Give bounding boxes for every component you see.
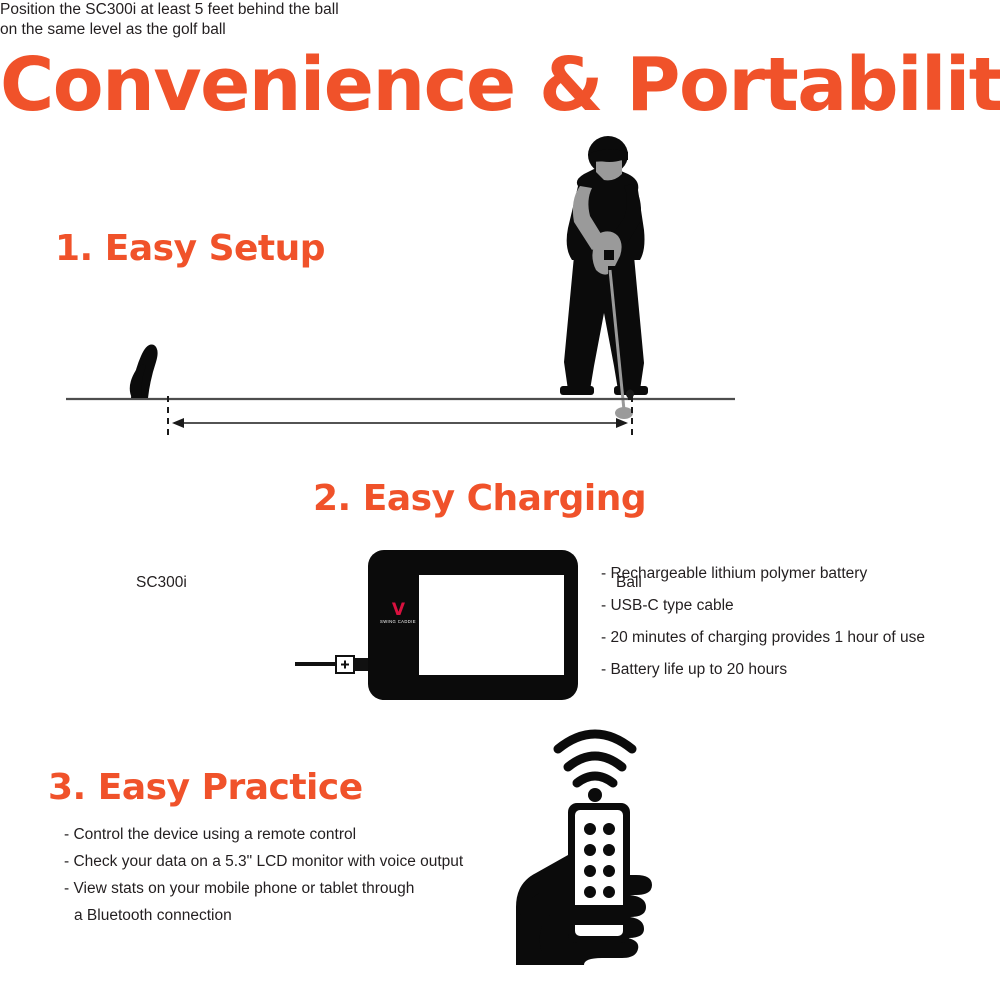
- signal-dot: [588, 788, 602, 802]
- swing-caddie-logo: V SWING CADDIE: [377, 602, 419, 624]
- remote-control-illustration: [480, 715, 690, 970]
- charging-bullet-1: - Rechargeable lithium polymer battery: [601, 565, 925, 583]
- easy-practice-bullets: - Control the device using a remote cont…: [64, 826, 463, 934]
- wireless-signal-icon: [558, 734, 632, 783]
- charging-bullet-4: - Battery life up to 20 hours: [601, 661, 925, 679]
- setup-diagram-svg: [0, 130, 1000, 470]
- distance-dimension-arrow: [172, 418, 628, 428]
- section-heading-easy-practice: 3. Easy Practice: [48, 770, 363, 806]
- setup-diagram: SC300i 5' Ball: [0, 130, 1000, 470]
- practice-bullet-3-continued: a Bluetooth connection: [64, 907, 463, 925]
- easy-setup-description-line-2: on the same level as the golf ball: [0, 20, 1000, 40]
- easy-setup-description-line-1: Position the SC300i at least 5 feet behi…: [0, 0, 1000, 20]
- logo-brand-text: SWING CADDIE: [377, 620, 419, 624]
- practice-bullet-1: - Control the device using a remote cont…: [64, 826, 463, 844]
- infographic-page: Convenience & Portability 1. Easy Setup …: [0, 0, 1000, 1000]
- easy-charging-bullets: - Rechargeable lithium polymer battery -…: [601, 565, 925, 693]
- page-title: Convenience & Portability: [0, 48, 1000, 122]
- practice-bullet-2: - Check your data on a 5.3" LCD monitor …: [64, 853, 463, 871]
- logo-v-mark: V: [377, 602, 419, 619]
- remote-in-hand-icon: [480, 715, 690, 970]
- device-screen: [419, 575, 564, 675]
- practice-bullet-3: - View stats on your mobile phone or tab…: [64, 880, 463, 898]
- charging-bullet-2: - USB-C type cable: [601, 597, 925, 615]
- sc300i-device-icon: [130, 344, 158, 398]
- section-heading-easy-charging: 2. Easy Charging: [313, 481, 646, 517]
- charging-bullet-3: - 20 minutes of charging provides 1 hour…: [601, 629, 925, 647]
- golfer-silhouette: [560, 136, 648, 419]
- diagram-label-sc300i: SC300i: [136, 574, 187, 592]
- charging-device-illustration: V SWING CADDIE: [280, 540, 600, 715]
- easy-setup-description: Position the SC300i at least 5 feet behi…: [0, 0, 1000, 40]
